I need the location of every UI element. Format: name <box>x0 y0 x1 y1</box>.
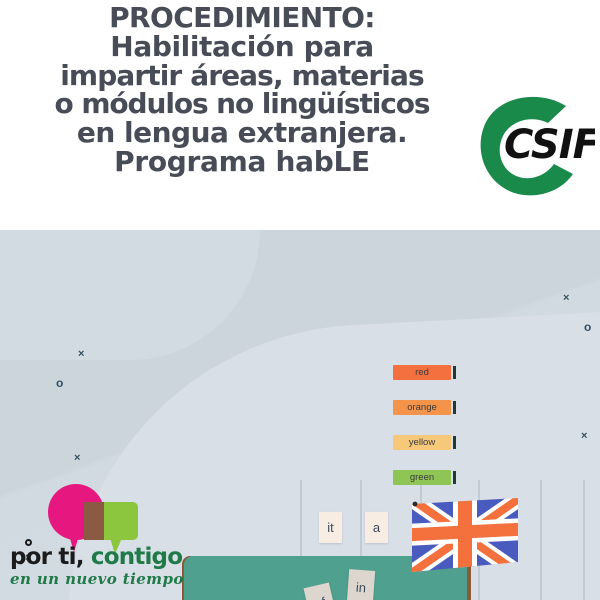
color-chip-yellow: yellow <box>393 435 451 450</box>
color-chip-tick <box>453 471 456 484</box>
title-line-1: PROCEDIMIENTO: <box>8 4 476 33</box>
union-jack-flag <box>410 498 520 574</box>
slogan-line-2: en un nuevo tiempo <box>10 570 184 588</box>
color-chip-green: green <box>393 470 451 485</box>
deco-o-mark: o <box>56 376 63 390</box>
color-chip-tick <box>453 436 456 449</box>
color-chip-orange: orange <box>393 400 451 415</box>
title-line-2: Habilitación para <box>8 33 476 62</box>
deco-x-mark: × <box>78 348 84 360</box>
deco-o-mark: o <box>584 320 591 334</box>
word-card-a: a <box>365 512 388 543</box>
deco-x-mark: × <box>563 292 569 304</box>
slogan-contigo: contigo <box>91 544 182 570</box>
poster-root: PROCEDIMIENTO: Habilitación para imparti… <box>0 0 600 600</box>
title-line-4: o módulos no lingüísticos <box>8 90 476 119</box>
page-title: PROCEDIMIENTO: Habilitación para imparti… <box>8 4 476 177</box>
slogan-por-ti: por ti, <box>10 544 84 570</box>
csif-wordmark: CSIF <box>504 122 595 168</box>
porti-contigo-logo: por ti, contigo en un nuevo tiempo <box>6 482 196 592</box>
csif-logo: CSIF <box>470 92 595 200</box>
flag-finial <box>413 502 418 507</box>
color-chip-red: red <box>393 365 451 380</box>
deco-x-mark: × <box>74 452 80 464</box>
title-line-6: Programa habLE <box>8 148 476 177</box>
title-line-3: impartir áreas, materias <box>8 62 476 91</box>
word-card-in: in <box>347 569 375 600</box>
deco-x-mark: × <box>581 430 587 442</box>
wall-panel-line <box>540 480 542 600</box>
color-chip-tick <box>453 401 456 414</box>
word-card-it: it <box>319 512 342 543</box>
color-chip-tick <box>453 366 456 379</box>
wall-panel-line <box>583 480 585 600</box>
header-banner: PROCEDIMIENTO: Habilitación para imparti… <box>0 0 600 230</box>
classroom-illustration: it a of in red orange yellow green <box>0 230 600 600</box>
title-line-5: en lengua extranjera. <box>8 119 476 148</box>
bubble-overlap <box>84 502 104 540</box>
slogan-line-1: por ti, contigo <box>10 544 182 570</box>
